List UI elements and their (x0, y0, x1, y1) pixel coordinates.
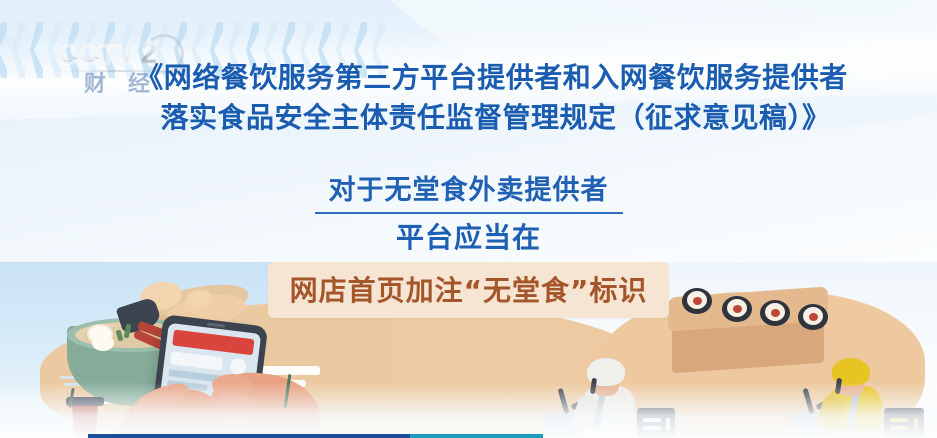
condition-subhead-wrap: 对于无堂食外卖提供者 (0, 168, 937, 214)
lower-third-rule-accent (410, 434, 543, 438)
ground-fade (0, 382, 937, 438)
requirement-subhead: 平台应当在 (396, 221, 541, 254)
headline-line-2: 落实食品安全主体责任监督管理规定（征求意见稿）》 (0, 98, 937, 138)
condition-subhead: 对于无堂食外卖提供者 (315, 168, 623, 214)
regulation-headline: 《网络餐饮服务第三方平台提供者和入网餐饮服务提供者 落实食品安全主体责任监督管理… (0, 58, 937, 138)
highlight-banner-wrap: 网店首页加注“无堂食”标识 (0, 262, 937, 318)
broadcast-screen: CCTV 2 财经 CCTV 央视网 com 《网络餐饮服务第三方平台提供者和入… (0, 0, 937, 438)
requirement-subhead-wrap: 平台应当在 (0, 216, 937, 256)
highlight-banner: 网店首页加注“无堂食”标识 (268, 262, 670, 318)
headline-line-1: 《网络餐饮服务第三方平台提供者和入网餐饮服务提供者 (0, 58, 937, 98)
